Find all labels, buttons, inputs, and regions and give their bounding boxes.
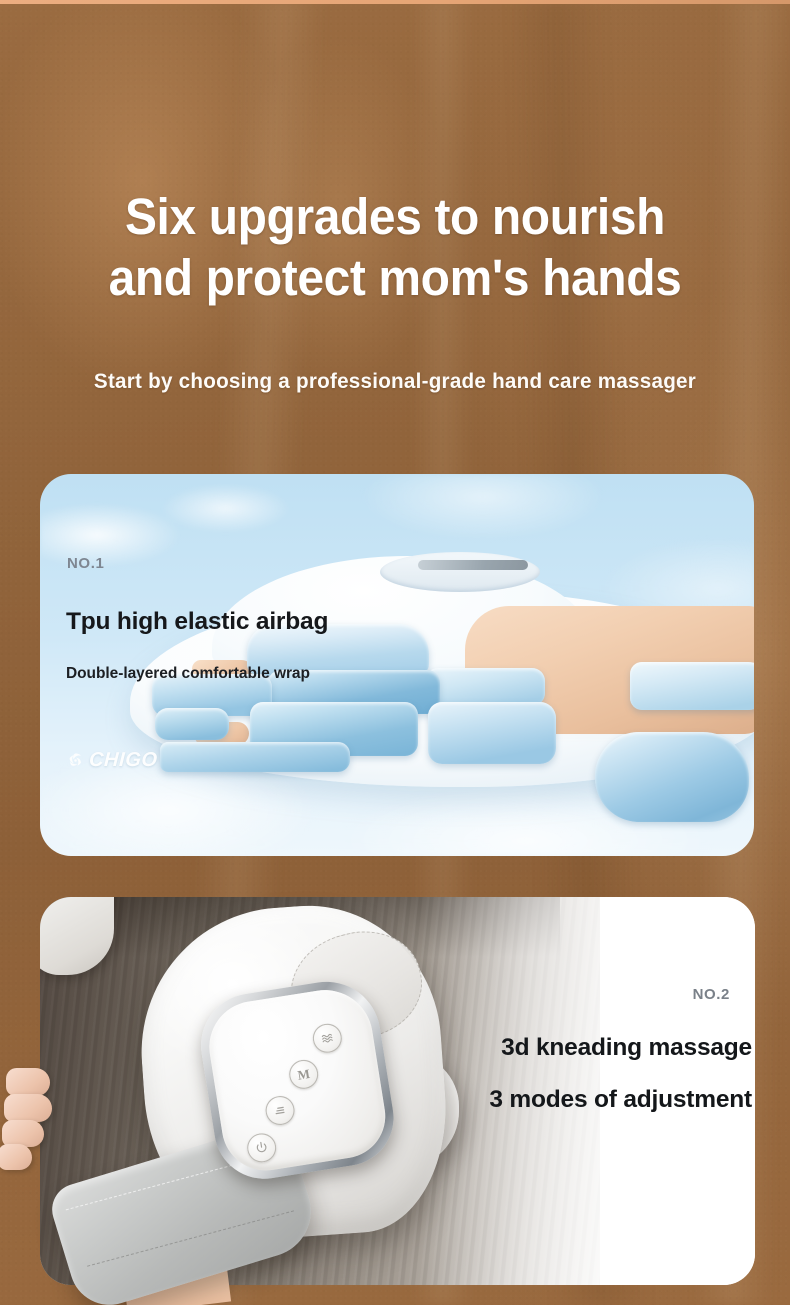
intensity-bars-icon: [271, 1102, 288, 1119]
tpu-airbag-segment: [630, 662, 754, 710]
top-accent-strip: [0, 0, 790, 4]
card-no1-subtitle: Double-layered comfortable wrap: [66, 665, 310, 683]
control-panel-face[interactable]: M: [203, 983, 392, 1177]
mode-button[interactable]: M: [287, 1058, 320, 1091]
power-icon: [253, 1139, 270, 1156]
chigo-swirl-icon: [66, 751, 85, 770]
card-no2-subtitle: 3 modes of adjustment: [489, 1086, 752, 1114]
device-tray-lip: [380, 552, 540, 592]
brand-name-label: CHIGO: [88, 749, 158, 772]
tpu-airbag-segment: [160, 742, 350, 772]
tpu-airbag-segment: [425, 668, 545, 706]
mode-m-icon: M: [297, 1067, 311, 1082]
product-promo-page: Six upgrades to nourish and protect mom'…: [0, 0, 790, 1305]
tpu-airbag-segment: [155, 708, 229, 740]
fingertip: [2, 1120, 44, 1147]
card-no2-title: 3d kneading massage: [501, 1034, 752, 1062]
heat-button[interactable]: [311, 1022, 344, 1055]
card-no1-title: Tpu high elastic airbag: [66, 608, 328, 636]
tpu-airbag-segment: [428, 702, 556, 764]
page-headline: Six upgrades to nourish and protect mom'…: [24, 186, 767, 308]
fingertip: [6, 1068, 50, 1096]
power-button[interactable]: [245, 1131, 278, 1164]
cuff-stitch-line: [87, 1210, 294, 1266]
tpu-airbag-thumb-segment: [595, 732, 749, 822]
control-panel-bezel: M: [194, 974, 401, 1186]
card-no1-number-label: NO.1: [67, 555, 104, 572]
second-hand-fingers: [6, 1068, 62, 1176]
brand-logo: CHIGO: [66, 749, 158, 772]
fingertip: [4, 1094, 52, 1122]
heat-wave-icon: [319, 1030, 336, 1047]
card-no2-number-label: NO.2: [693, 986, 730, 1003]
page-subtitle: Start by choosing a professional-grade h…: [16, 369, 774, 394]
hand-massager-device: M: [55, 903, 455, 1298]
intensity-button[interactable]: [263, 1094, 296, 1127]
fingertip: [0, 1144, 32, 1170]
